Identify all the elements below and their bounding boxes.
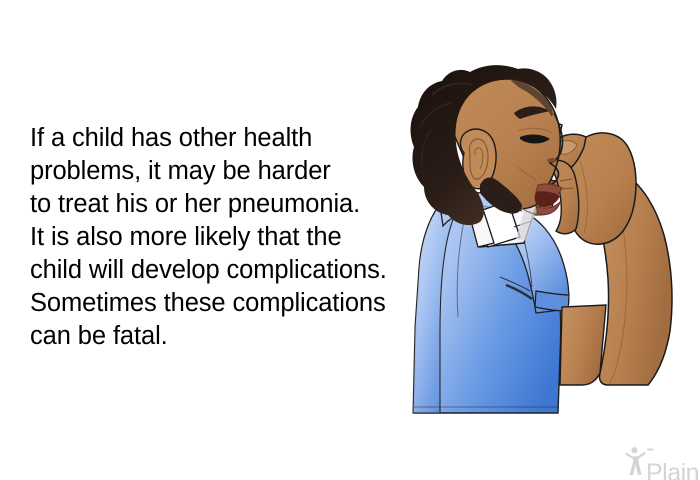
text-line: problems, it may be harder — [30, 155, 430, 188]
page-root: If a child has other health problems, it… — [0, 0, 700, 480]
illustration-boy-using-inhaler — [410, 55, 700, 425]
text-line: child will develop complications. — [30, 254, 430, 287]
text-line: It is also more likely that the — [30, 221, 430, 254]
boy-inhaler-svg — [410, 55, 700, 425]
text-line: to treat his or her pneumonia. — [30, 188, 430, 221]
logo-text: -Plain — [646, 436, 700, 480]
text-line: Sometimes these complications — [30, 287, 430, 320]
x-plain-logo: -Plain — [622, 444, 700, 478]
body-text-block: If a child has other health problems, it… — [30, 122, 430, 353]
text-line: If a child has other health — [30, 122, 430, 155]
x-plain-person-icon — [622, 446, 648, 476]
forearm-lower — [560, 305, 606, 385]
text-line: can be fatal. — [30, 320, 430, 353]
